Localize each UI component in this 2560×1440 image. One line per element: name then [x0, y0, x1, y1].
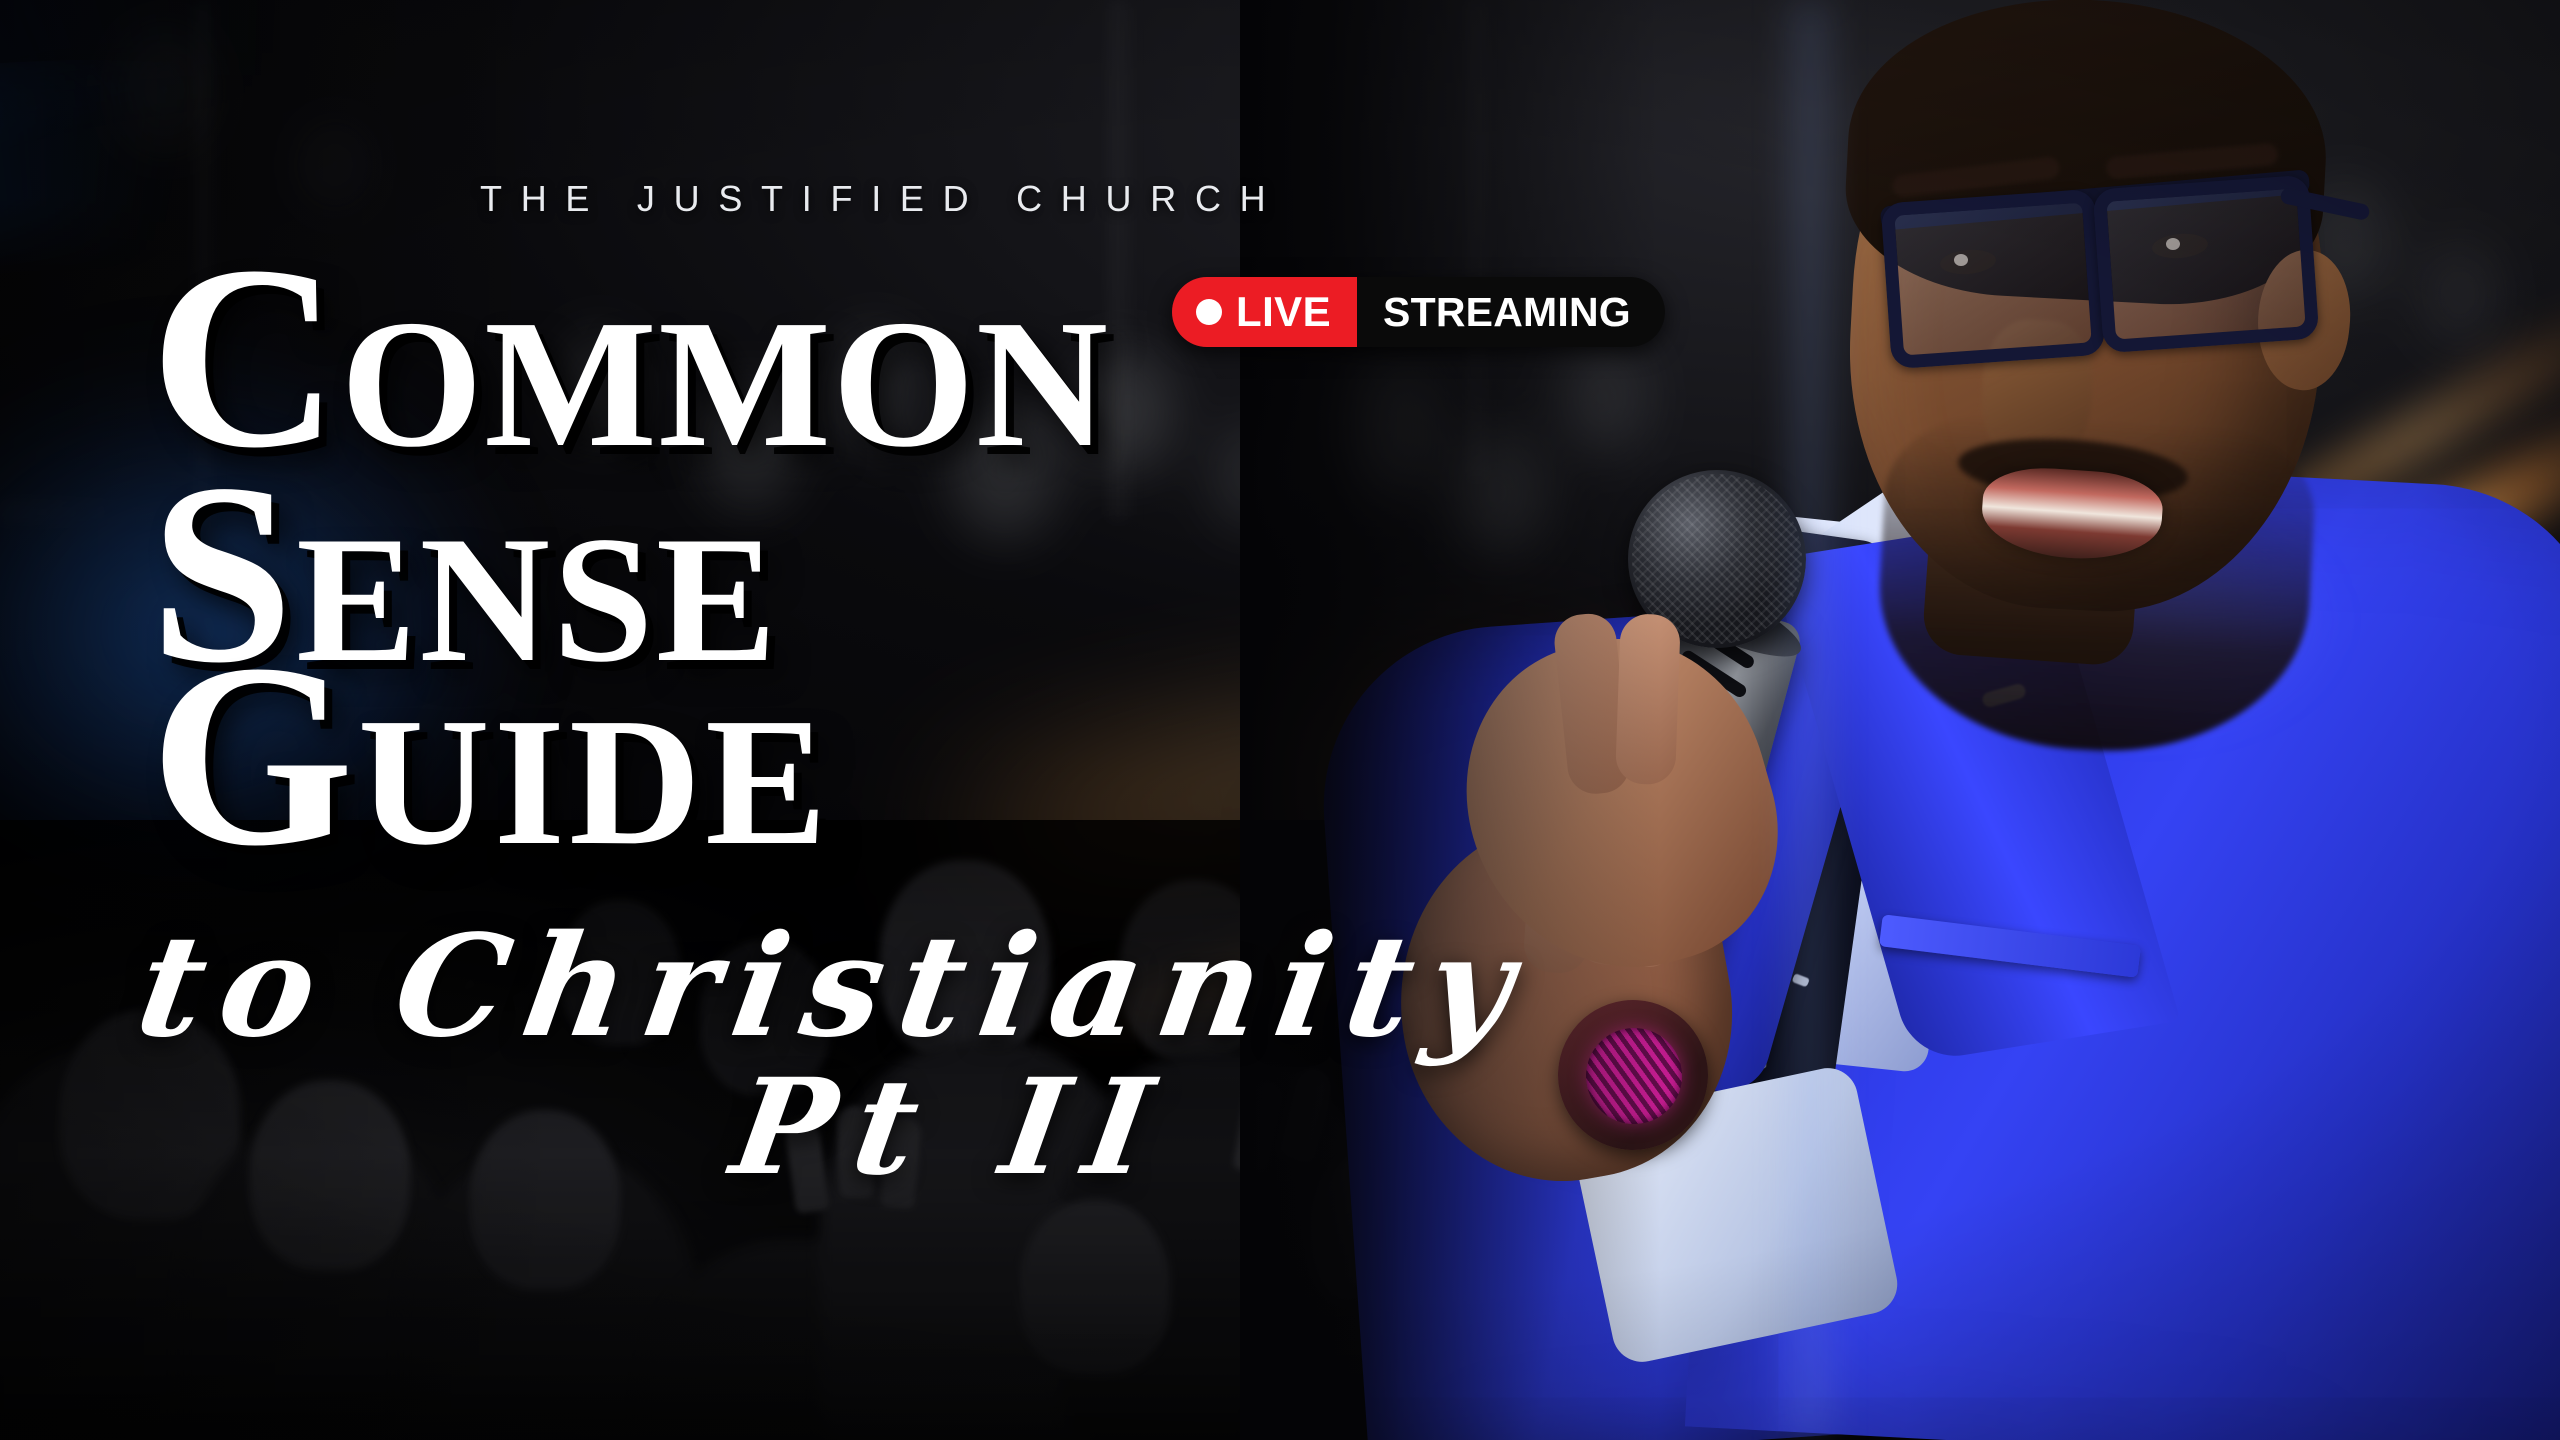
streaming-badge-label: STREAMING: [1383, 292, 1631, 333]
streaming-badge-segment[interactable]: STREAMING: [1357, 277, 1665, 347]
livestream-thumbnail: THE JUSTIFIED CHURCH Common Sense Guide …: [0, 0, 2560, 1440]
live-badge-label: LIVE: [1236, 291, 1331, 333]
title-line-3: Guide: [150, 648, 831, 863]
subtitle-script-line-2: Pt II: [723, 1050, 1183, 1205]
text-content: THE JUSTIFIED CHURCH Common Sense Guide …: [0, 0, 2560, 1440]
live-badge-segment[interactable]: LIVE: [1172, 277, 1357, 347]
live-streaming-badge[interactable]: LIVE STREAMING: [1172, 277, 1665, 347]
subtitle-script-line-1: to Christianity: [127, 905, 1540, 1069]
live-dot-icon: [1196, 299, 1222, 325]
